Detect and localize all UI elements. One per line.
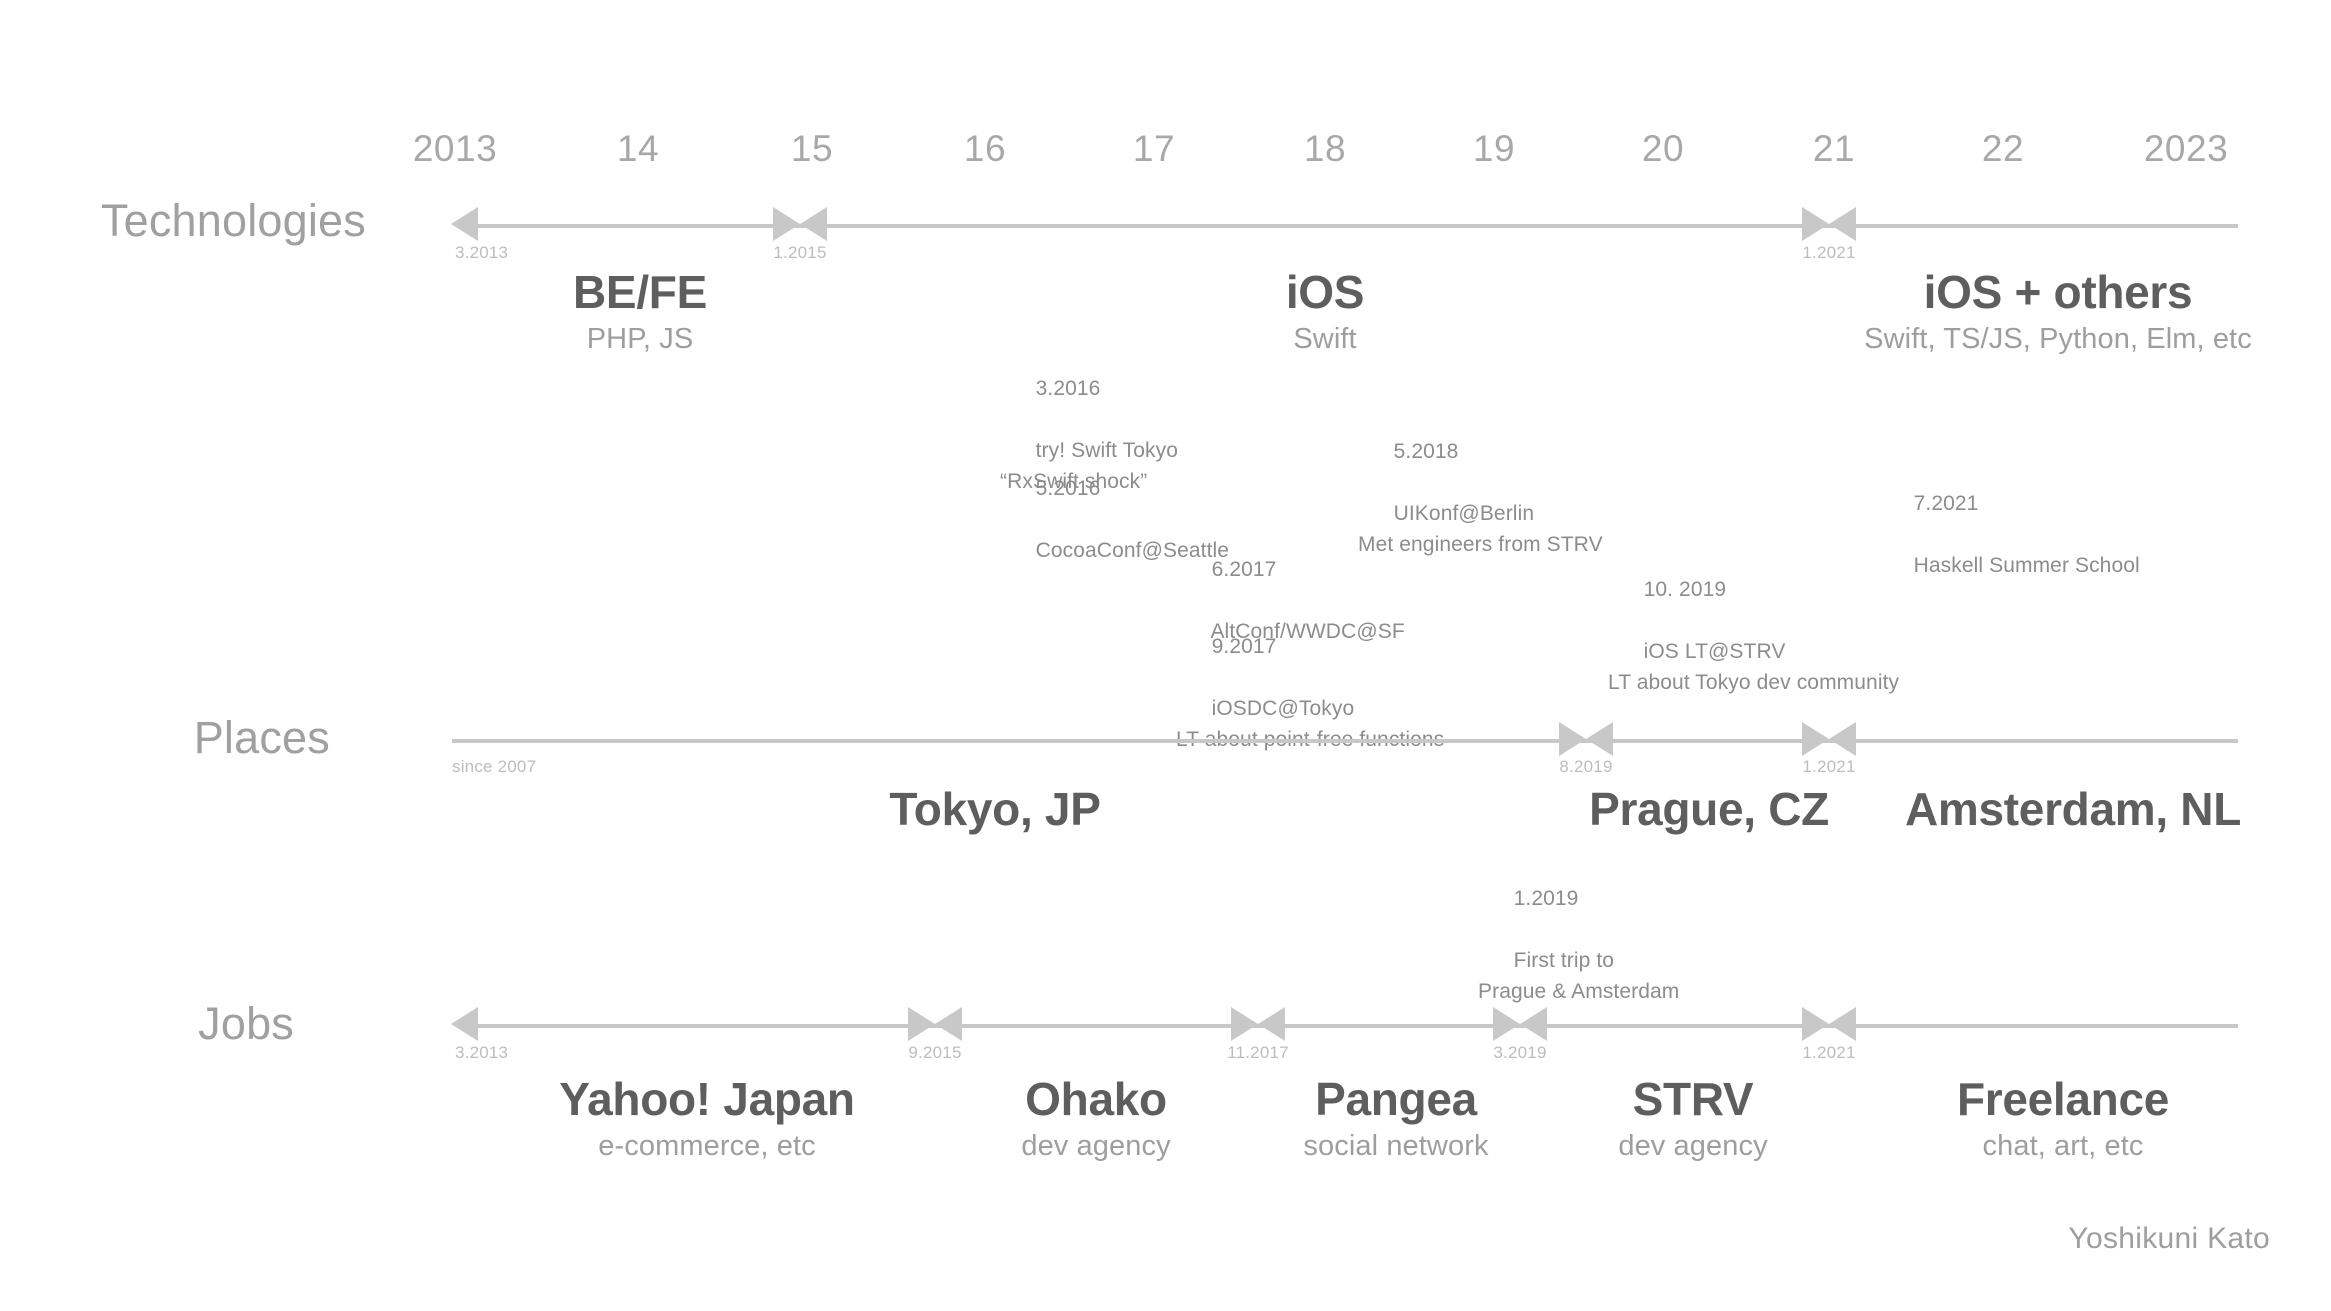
technologies-note-6-date: 10. 2019 — [1644, 578, 1727, 601]
jobs-segment-3: STRV dev agency — [1618, 1075, 1767, 1163]
jobs-timeline-line — [478, 1024, 2238, 1028]
technologies-note-3: 7.2021 Haskell Summer School — [1878, 457, 2140, 612]
technologies-marker-2-date: 1.2021 — [1802, 243, 1855, 263]
year-tick-20: 20 — [1642, 128, 1684, 170]
jobs-marker-3-date: 3.2019 — [1493, 1043, 1546, 1063]
technologies-segment-1-title: iOS — [1286, 268, 1364, 316]
jobs-segment-4: Freelance chat, art, etc — [1957, 1075, 2169, 1163]
year-tick-21: 21 — [1813, 128, 1855, 170]
year-tick-17: 17 — [1133, 128, 1175, 170]
row-title-places: Places — [194, 712, 330, 764]
jobs-marker-2-date: 11.2017 — [1227, 1043, 1289, 1063]
places-segment-2-title: Amsterdam, NL — [1905, 785, 2241, 833]
jobs-segment-2: Pangea social network — [1303, 1075, 1488, 1163]
places-segment-2: Amsterdam, NL — [1905, 785, 2241, 833]
year-tick-14: 14 — [617, 128, 659, 170]
jobs-segment-0: Yahoo! Japan e-commerce, etc — [559, 1075, 854, 1163]
jobs-segment-1: Ohako dev agency — [1021, 1075, 1170, 1163]
technologies-segment-1-sub: Swift — [1286, 323, 1364, 356]
technologies-segment-0-sub: PHP, JS — [573, 323, 707, 356]
places-note-0-date: 1.2019 — [1514, 887, 1579, 910]
jobs-segment-4-title: Freelance — [1957, 1075, 2169, 1123]
places-note-0-lines: First trip to Prague & Amsterdam — [1478, 949, 1679, 1003]
places-segment-1: Prague, CZ — [1589, 785, 1829, 833]
jobs-marker-1-date: 9.2015 — [908, 1043, 961, 1063]
jobs-segment-0-sub: e-commerce, etc — [559, 1130, 854, 1163]
year-tick-15: 15 — [791, 128, 833, 170]
places-timeline-line — [452, 739, 2238, 743]
technologies-segment-2-title: iOS + others — [1864, 268, 2252, 316]
technologies-timeline-line — [478, 224, 2238, 228]
technologies-note-4-date: 6.2017 — [1212, 558, 1277, 581]
year-tick-22: 22 — [1982, 128, 2024, 170]
jobs-segment-3-sub: dev agency — [1618, 1130, 1767, 1163]
year-tick-2013: 2013 — [413, 128, 497, 170]
technologies-segment-0: BE/FE PHP, JS — [573, 268, 707, 356]
places-segment-0-title: Tokyo, JP — [889, 785, 1100, 833]
technologies-note-1-date: 5.2016 — [1036, 477, 1101, 500]
jobs-segment-2-sub: social network — [1303, 1130, 1488, 1163]
technologies-note-3-lines: Haskell Summer School — [1914, 554, 2140, 577]
technologies-note-2-date: 5.2018 — [1394, 440, 1459, 463]
technologies-note-3-date: 7.2021 — [1914, 492, 1979, 515]
technologies-note-5-date: 9.2017 — [1212, 635, 1277, 658]
technologies-note-6-lines: iOS LT@STRV LT about Tokyo dev community — [1608, 640, 1899, 694]
places-marker-1-date: 8.2019 — [1559, 757, 1612, 777]
row-title-jobs: Jobs — [198, 998, 294, 1050]
technologies-note-5: 9.2017 iOSDC@Tokyo LT about point-free f… — [1176, 600, 1444, 786]
technologies-note-5-lines: iOSDC@Tokyo LT about point-free function… — [1176, 697, 1444, 751]
row-title-technologies: Technologies — [101, 195, 366, 247]
jobs-segment-3-title: STRV — [1618, 1075, 1767, 1123]
jobs-marker-4-date: 1.2021 — [1802, 1043, 1855, 1063]
technologies-start-date: 3.2013 — [455, 243, 508, 263]
jobs-segment-1-sub: dev agency — [1021, 1130, 1170, 1163]
jobs-segment-4-sub: chat, art, etc — [1957, 1130, 2169, 1163]
timeline-infographic: 2013 14 15 16 17 18 19 20 21 22 2023 Tec… — [0, 0, 2331, 1311]
year-tick-16: 16 — [964, 128, 1006, 170]
technologies-segment-2-sub: Swift, TS/JS, Python, Elm, etc — [1864, 323, 2252, 356]
places-segment-1-title: Prague, CZ — [1589, 785, 1829, 833]
technologies-segment-1: iOS Swift — [1286, 268, 1364, 356]
jobs-segment-2-title: Pangea — [1303, 1075, 1488, 1123]
places-start-date: since 2007 — [452, 757, 536, 777]
places-marker-2-date: 1.2021 — [1802, 757, 1855, 777]
year-tick-19: 19 — [1473, 128, 1515, 170]
jobs-segment-0-title: Yahoo! Japan — [559, 1075, 854, 1123]
places-segment-0: Tokyo, JP — [889, 785, 1100, 833]
jobs-start-date: 3.2013 — [455, 1043, 508, 1063]
technologies-note-0-date: 3.2016 — [1036, 377, 1101, 400]
author-signature: Yoshikuni Kato — [2068, 1222, 2270, 1256]
year-tick-18: 18 — [1304, 128, 1346, 170]
technologies-segment-2: iOS + others Swift, TS/JS, Python, Elm, … — [1864, 268, 2252, 356]
technologies-marker-1-date: 1.2015 — [773, 243, 826, 263]
jobs-segment-1-title: Ohako — [1021, 1075, 1170, 1123]
technologies-note-6: 10. 2019 iOS LT@STRV LT about Tokyo dev … — [1608, 543, 1899, 729]
year-tick-2023: 2023 — [2144, 128, 2228, 170]
technologies-segment-0-title: BE/FE — [573, 268, 707, 316]
